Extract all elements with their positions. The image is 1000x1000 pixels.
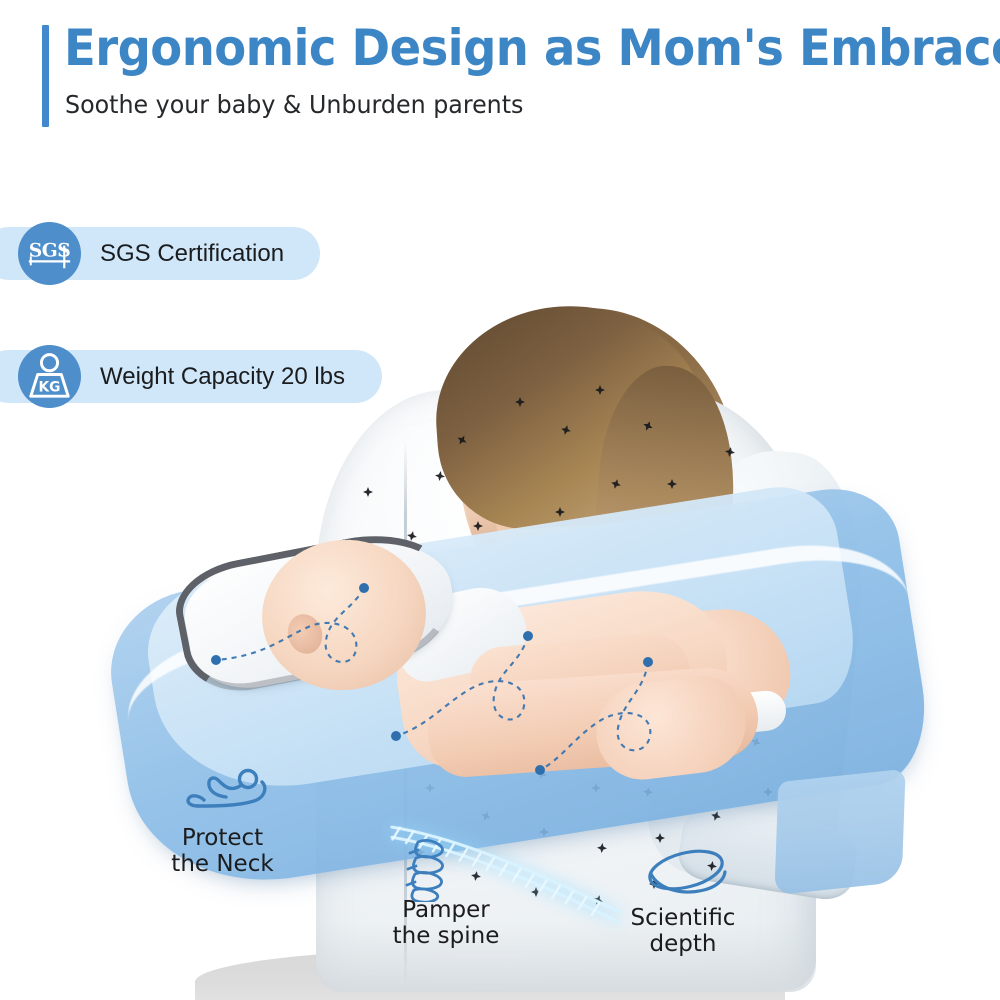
svg-text:KG: KG: [39, 379, 61, 395]
reclining-baby-icon: [176, 766, 274, 818]
product-feature-image: Ergonomic Design as Mom's Embrace Soothe…: [0, 0, 1000, 1000]
spine-vertebrae-icon: [402, 836, 460, 902]
depth-ellipse-icon: [640, 846, 732, 902]
accent-bar: [42, 25, 49, 127]
page-title: Ergonomic Design as Mom's Embrace: [64, 16, 1000, 80]
sgs-logo-glyph: SGS: [18, 222, 81, 285]
badge-sgs-label: SGS Certification: [100, 240, 284, 268]
weight-capacity-icon: KG: [18, 345, 81, 408]
kg-weight-glyph: KG: [18, 345, 81, 408]
badge-weight-label: Weight Capacity 20 lbs: [100, 363, 345, 391]
callout-pamper-the-spine: Pamper the spine: [368, 898, 524, 950]
callout-scientific-depth: Scientific depth: [608, 906, 758, 958]
badge-weight-capacity: KG Weight Capacity 20 lbs: [0, 350, 382, 403]
page-subtitle: Soothe your baby & Unburden parents: [65, 90, 523, 119]
callout-protect-the-neck: Protect the Neck: [155, 826, 290, 878]
baby-lounger-tail: [774, 769, 905, 895]
badge-sgs-certification: SGS SGS Certification: [0, 227, 320, 280]
header: Ergonomic Design as Mom's Embrace Soothe…: [42, 22, 962, 128]
sgs-certification-icon: SGS: [18, 222, 81, 285]
